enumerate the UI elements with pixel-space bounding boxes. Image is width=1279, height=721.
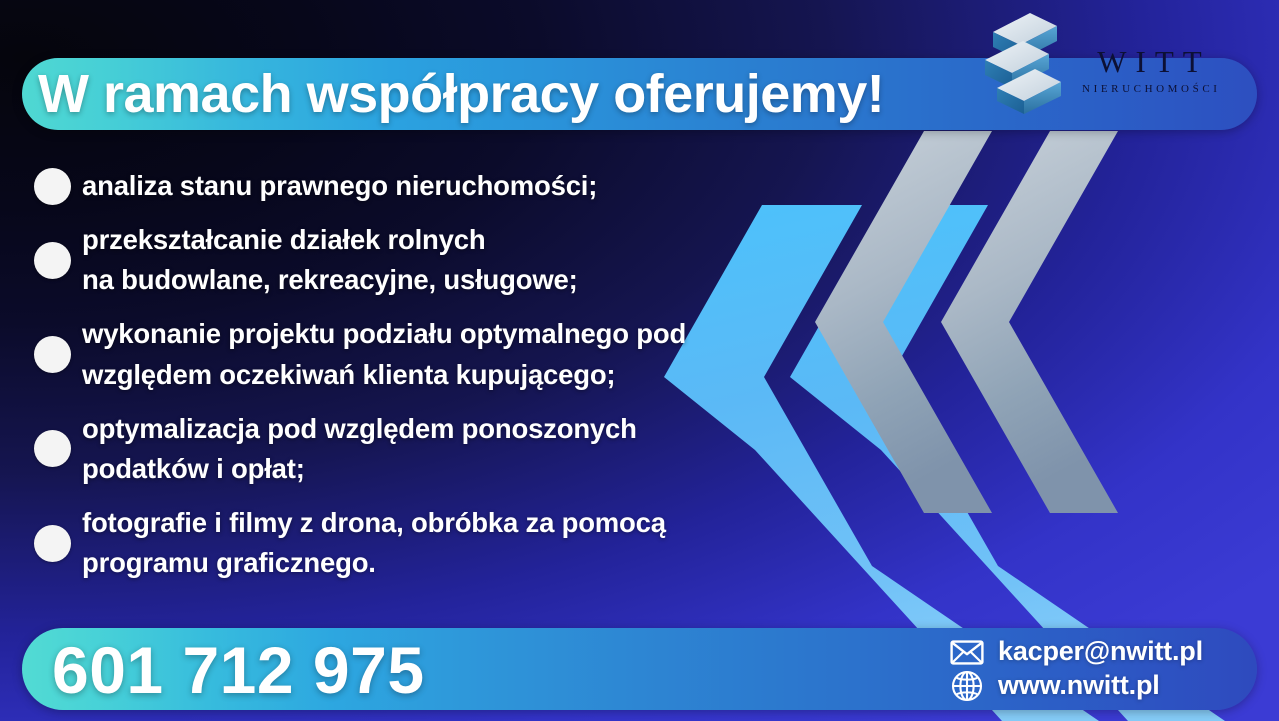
bullet-dot-icon xyxy=(34,430,71,467)
list-item: analiza stanu prawnego nieruchomości; xyxy=(34,166,794,206)
bullet-dot-icon xyxy=(34,168,71,205)
list-item-line: na budowlane, rekreacyjne, usługowe; xyxy=(82,260,578,300)
brand-subtitle: NIERUCHOMOŚCI xyxy=(1067,84,1232,95)
list-item-line: optymalizacja pod względem ponoszonych xyxy=(82,409,637,449)
offer-list: analiza stanu prawnego nieruchomości; pr… xyxy=(34,166,794,597)
brand-logo: WITT NIERUCHOMOŚCI xyxy=(975,8,1230,120)
bullet-dot-icon xyxy=(34,525,71,562)
list-item-text: fotografie i filmy z drona, obróbka za p… xyxy=(82,503,666,583)
list-item-line: podatków i opłat; xyxy=(82,449,637,489)
list-item-line: względem oczekiwań klienta kupującego; xyxy=(82,355,686,395)
brand-name: WITT xyxy=(1067,46,1232,77)
brand-wordmark: WITT NIERUCHOMOŚCI xyxy=(1067,46,1232,95)
website-row[interactable]: www.nwitt.pl xyxy=(950,671,1250,701)
email-text: kacper@nwitt.pl xyxy=(998,637,1203,667)
list-item-line: analiza stanu prawnego nieruchomości; xyxy=(82,166,597,206)
globe-icon xyxy=(950,671,984,701)
promo-poster: W ramach współpracy oferujemy! xyxy=(0,0,1279,721)
list-item: optymalizacja pod względem ponoszonych p… xyxy=(34,409,794,489)
isometric-n-blocks-icon xyxy=(975,8,1067,116)
list-item-line: przekształcanie działek rolnych xyxy=(82,220,578,260)
list-item-line: fotografie i filmy z drona, obróbka za p… xyxy=(82,503,666,543)
list-item-text: optymalizacja pod względem ponoszonych p… xyxy=(82,409,637,489)
list-item: przekształcanie działek rolnych na budow… xyxy=(34,220,794,300)
list-item-line: wykonanie projektu podziału optymalnego … xyxy=(82,314,686,354)
list-item: fotografie i filmy z drona, obróbka za p… xyxy=(34,503,794,583)
chevron-silver-left xyxy=(815,131,992,513)
list-item-text: analiza stanu prawnego nieruchomości; xyxy=(82,166,597,206)
envelope-icon xyxy=(950,637,984,667)
bullet-dot-icon xyxy=(34,336,71,373)
list-item-text: przekształcanie działek rolnych na budow… xyxy=(82,220,578,300)
email-row[interactable]: kacper@nwitt.pl xyxy=(950,637,1250,667)
list-item: wykonanie projektu podziału optymalnego … xyxy=(34,314,794,394)
bullet-dot-icon xyxy=(34,242,71,279)
page-title: W ramach współpracy oferujemy! xyxy=(38,52,978,136)
list-item-text: wykonanie projektu podziału optymalnego … xyxy=(82,314,686,394)
chevron-silver-right xyxy=(941,131,1118,513)
list-item-line: programu graficznego. xyxy=(82,543,666,583)
phone-number[interactable]: 601 712 975 xyxy=(52,624,425,716)
website-text: www.nwitt.pl xyxy=(998,671,1160,701)
contact-block: kacper@nwitt.pl www.nwitt.pl xyxy=(950,623,1250,715)
